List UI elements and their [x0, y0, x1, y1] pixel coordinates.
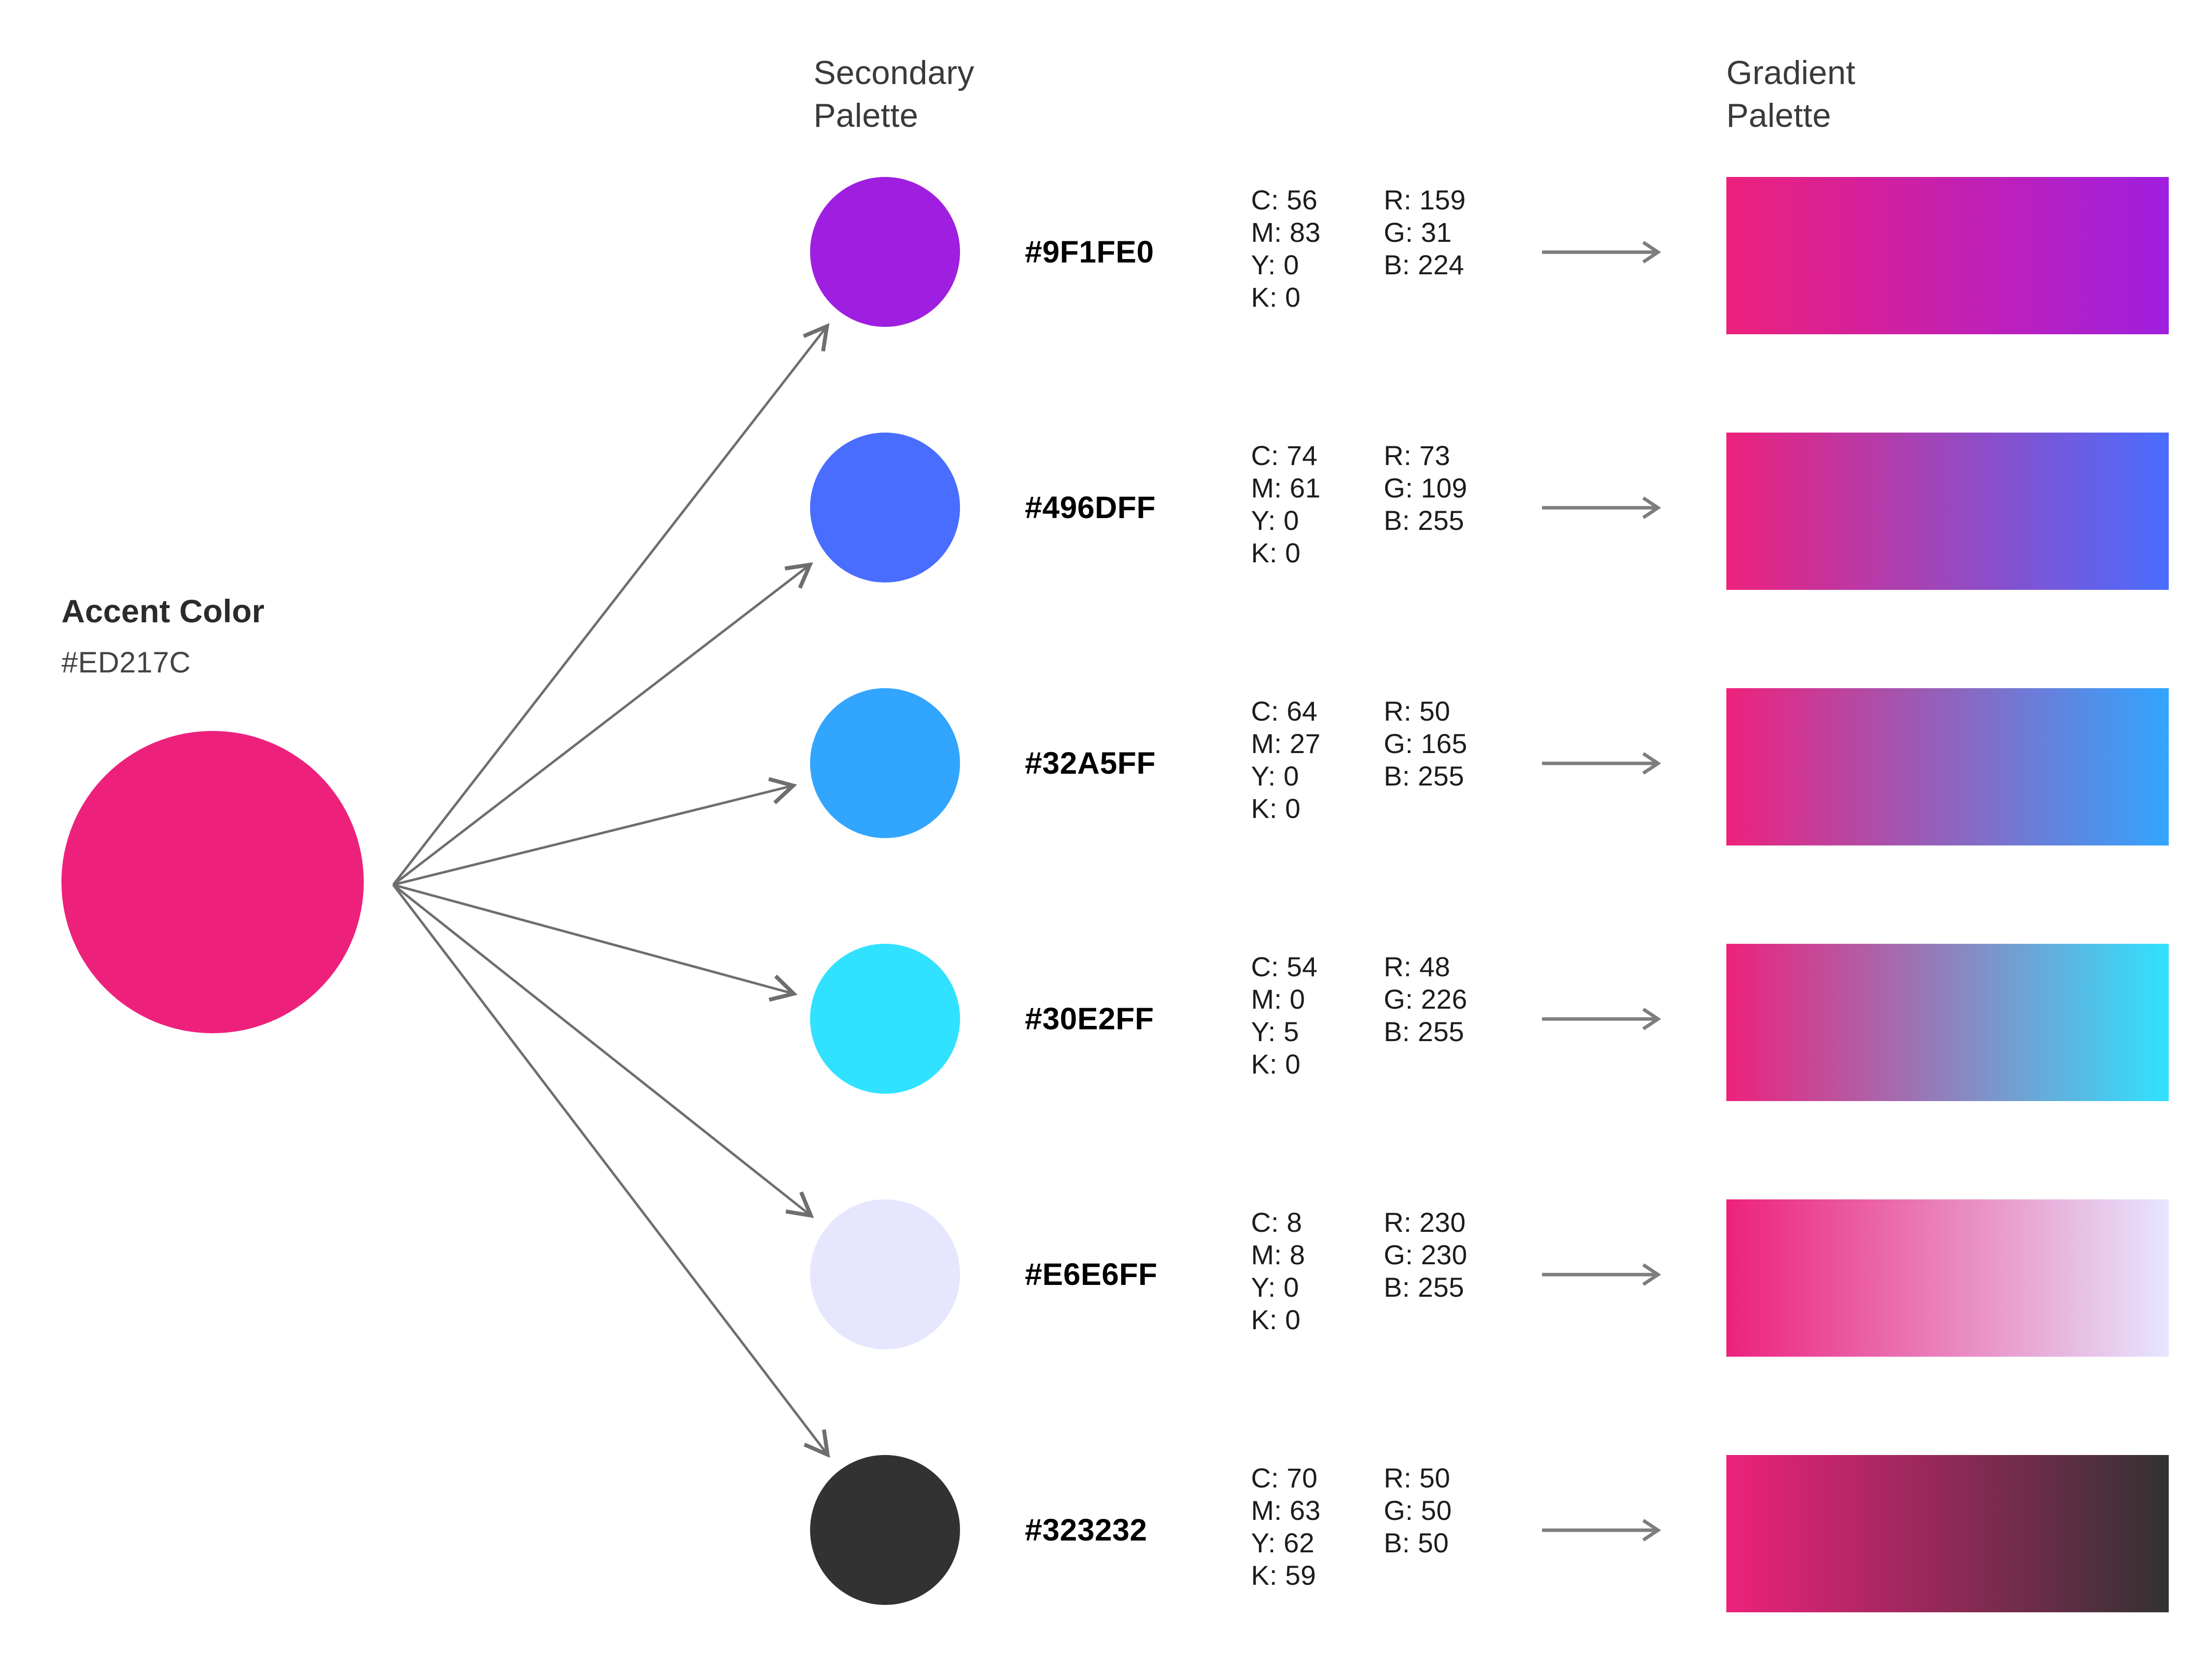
cmyk-value-line: Y: 0: [1251, 504, 1321, 537]
cmyk-values: C: 8M: 8Y: 0K: 0: [1251, 1199, 1305, 1356]
rgb-value-line: B: 224: [1384, 249, 1466, 281]
palette-row: #30E2FFC: 54M: 0Y: 5K: 0R: 48G: 226B: 25…: [0, 944, 2212, 1094]
cmyk-value-line: M: 27: [1251, 728, 1321, 760]
cmyk-value-line: K: 0: [1251, 1048, 1317, 1080]
hex-label: #30E2FF: [1025, 944, 1154, 1094]
hex-label: #E6E6FF: [1025, 1199, 1158, 1349]
color-swatch-9f1fe0: [810, 177, 960, 327]
rgb-value-line: R: 159: [1384, 184, 1466, 216]
rgb-values: R: 73G: 109B: 255: [1384, 433, 1467, 589]
hex-label: #496DFF: [1025, 433, 1156, 582]
gradient-bar: [1726, 944, 2169, 1101]
color-swatch-32a5ff: [810, 688, 960, 838]
secondary-palette-heading: Secondary Palette: [814, 52, 974, 137]
cmyk-value-line: K: 0: [1251, 792, 1321, 825]
arrow-right-icon: [1541, 688, 1664, 838]
cmyk-value-line: K: 59: [1251, 1559, 1321, 1592]
cmyk-value-line: C: 64: [1251, 695, 1321, 728]
cmyk-value-line: K: 0: [1251, 281, 1321, 314]
cmyk-values: C: 74M: 61Y: 0K: 0: [1251, 433, 1321, 589]
rgb-values: R: 159G: 31B: 224: [1384, 177, 1466, 334]
gradient-bar: [1726, 177, 2169, 334]
cmyk-value-line: C: 74: [1251, 439, 1321, 472]
arrow-right-icon: [1541, 1455, 1664, 1605]
arrow-right-icon: [1541, 1199, 1664, 1349]
rgb-values: R: 50G: 50B: 50: [1384, 1455, 1452, 1612]
palette-row: #496DFFC: 74M: 61Y: 0K: 0R: 73G: 109B: 2…: [0, 433, 2212, 582]
palette-row: #32A5FFC: 64M: 27Y: 0K: 0R: 50G: 165B: 2…: [0, 688, 2212, 838]
arrow-right-icon: [1541, 177, 1664, 327]
rgb-value-line: G: 165: [1384, 728, 1467, 760]
gradient-palette-heading: Gradient Palette: [1726, 52, 1855, 137]
arrow-right-icon: [1541, 944, 1664, 1094]
cmyk-value-line: Y: 0: [1251, 1271, 1305, 1304]
rgb-value-line: G: 31: [1384, 216, 1466, 249]
accent-color-hex: #ED217C: [61, 645, 504, 679]
color-swatch-323232: [810, 1455, 960, 1605]
cmyk-values: C: 64M: 27Y: 0K: 0: [1251, 688, 1321, 845]
rgb-value-line: G: 50: [1384, 1494, 1452, 1527]
rgb-value-line: R: 48: [1384, 951, 1467, 983]
cmyk-value-line: C: 70: [1251, 1462, 1321, 1494]
rgb-value-line: B: 255: [1384, 504, 1467, 537]
cmyk-value-line: Y: 0: [1251, 760, 1321, 792]
rgb-value-line: B: 255: [1384, 760, 1467, 792]
hex-label: #32A5FF: [1025, 688, 1156, 838]
rgb-value-line: R: 73: [1384, 439, 1467, 472]
cmyk-values: C: 70M: 63Y: 62K: 59: [1251, 1455, 1321, 1612]
cmyk-values: C: 56M: 83Y: 0K: 0: [1251, 177, 1321, 334]
accent-color-block: Accent Color #ED217C: [61, 592, 504, 679]
cmyk-value-line: K: 0: [1251, 537, 1321, 569]
cmyk-value-line: C: 8: [1251, 1206, 1305, 1239]
rgb-value-line: B: 255: [1384, 1016, 1467, 1048]
rgb-value-line: G: 230: [1384, 1239, 1467, 1271]
color-swatch-496dff: [810, 433, 960, 582]
rgb-value-line: R: 230: [1384, 1206, 1467, 1239]
cmyk-value-line: K: 0: [1251, 1304, 1305, 1336]
palette-row: #9F1FE0C: 56M: 83Y: 0K: 0R: 159G: 31B: 2…: [0, 177, 2212, 327]
rgb-value-line: B: 50: [1384, 1527, 1452, 1559]
gradient-bar: [1726, 433, 2169, 590]
gradient-bar: [1726, 1199, 2169, 1357]
hex-label: #323232: [1025, 1455, 1147, 1605]
accent-color-title: Accent Color: [61, 592, 504, 630]
cmyk-value-line: Y: 5: [1251, 1016, 1317, 1048]
rgb-value-line: G: 226: [1384, 983, 1467, 1016]
cmyk-value-line: Y: 0: [1251, 249, 1321, 281]
palette-row: #E6E6FFC: 8M: 8Y: 0K: 0R: 230G: 230B: 25…: [0, 1199, 2212, 1349]
gradient-bar: [1726, 688, 2169, 845]
color-swatch-30e2ff: [810, 944, 960, 1094]
cmyk-value-line: M: 0: [1251, 983, 1317, 1016]
cmyk-value-line: C: 54: [1251, 951, 1317, 983]
rgb-values: R: 230G: 230B: 255: [1384, 1199, 1467, 1356]
hex-label: #9F1FE0: [1025, 177, 1154, 327]
rgb-value-line: R: 50: [1384, 1462, 1452, 1494]
arrow-right-icon: [1541, 433, 1664, 582]
rgb-value-line: B: 255: [1384, 1271, 1467, 1304]
cmyk-value-line: M: 63: [1251, 1494, 1321, 1527]
cmyk-value-line: Y: 62: [1251, 1527, 1321, 1559]
cmyk-value-line: C: 56: [1251, 184, 1321, 216]
rgb-values: R: 50G: 165B: 255: [1384, 688, 1467, 845]
palette-row: #323232C: 70M: 63Y: 62K: 59R: 50G: 50B: …: [0, 1455, 2212, 1605]
rgb-value-line: G: 109: [1384, 472, 1467, 504]
cmyk-value-line: M: 83: [1251, 216, 1321, 249]
gradient-bar: [1726, 1455, 2169, 1612]
cmyk-values: C: 54M: 0Y: 5K: 0: [1251, 944, 1317, 1101]
rgb-value-line: R: 50: [1384, 695, 1467, 728]
rgb-values: R: 48G: 226B: 255: [1384, 944, 1467, 1101]
cmyk-value-line: M: 61: [1251, 472, 1321, 504]
color-swatch-e6e6ff: [810, 1199, 960, 1349]
cmyk-value-line: M: 8: [1251, 1239, 1305, 1271]
